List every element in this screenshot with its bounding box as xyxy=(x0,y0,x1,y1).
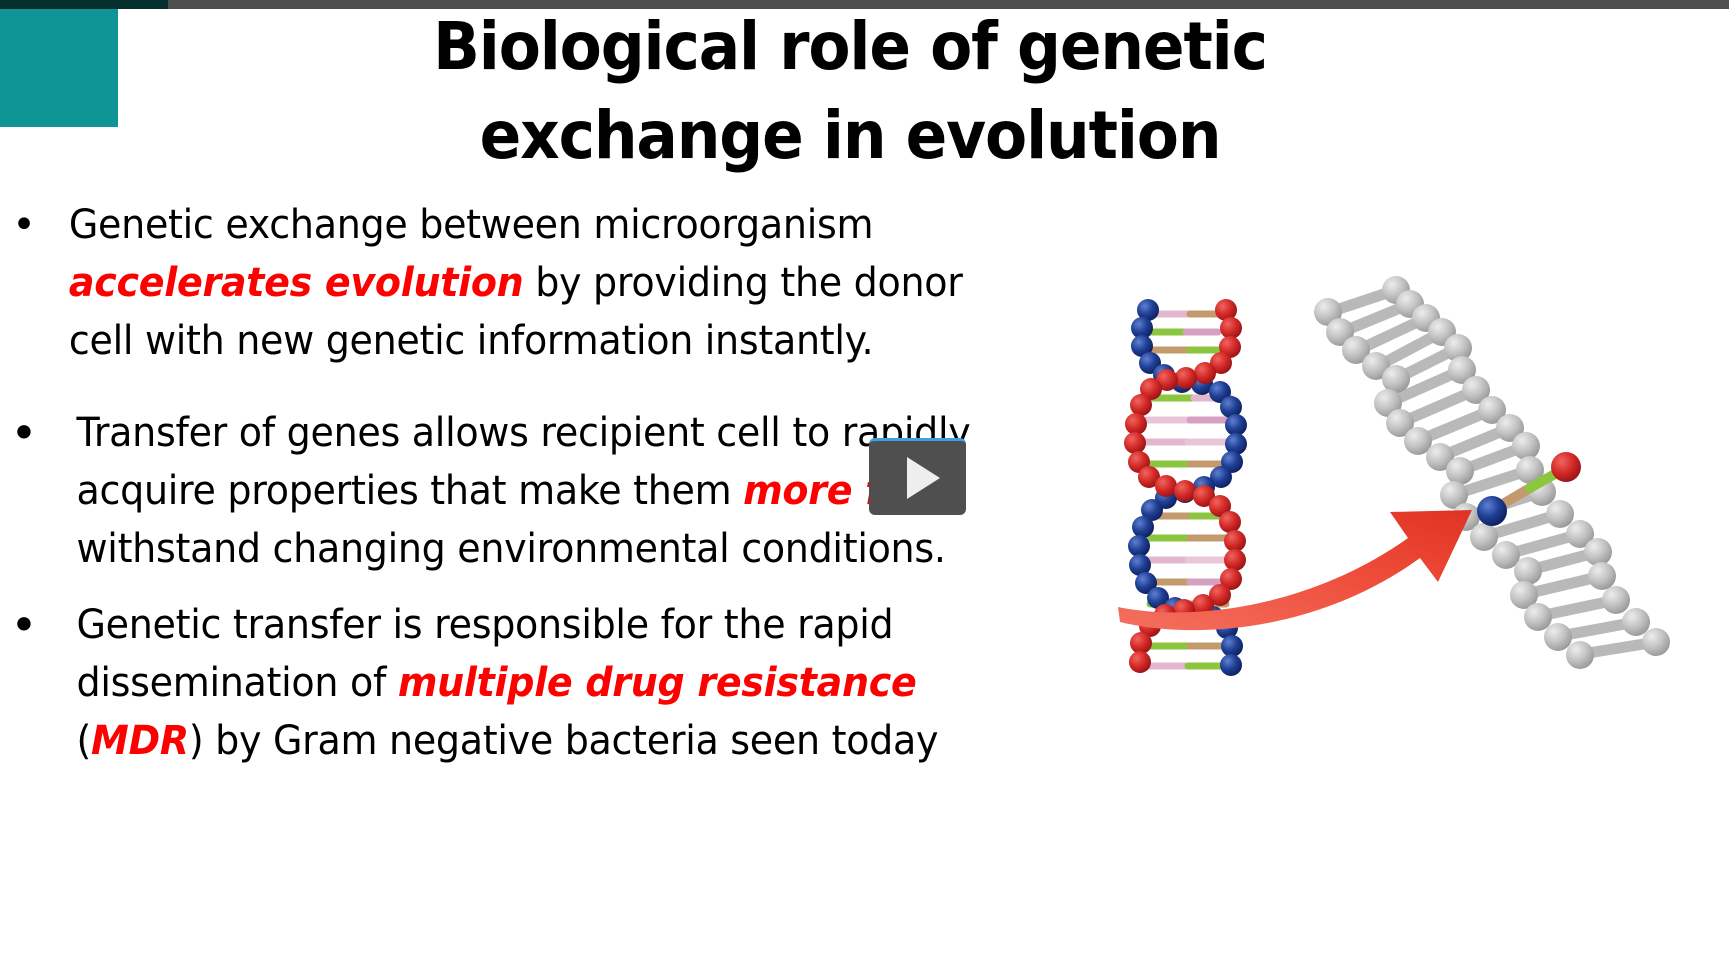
top-chrome-bar-dark-segment xyxy=(0,0,168,9)
slide-root: Biological role of genetic exchange in e… xyxy=(0,0,1729,975)
bullet-text-segment: Genetic exchange between microorganism xyxy=(69,202,873,248)
list-item: • Genetic exchange between microorganism… xyxy=(0,196,1040,370)
play-triangle-icon xyxy=(907,457,940,499)
slide-title-line-1: Biological role of genetic xyxy=(320,2,1380,91)
teal-corner-top-left xyxy=(0,9,118,127)
gray-dna-double-helix xyxy=(1314,276,1670,669)
dna-figure-svg xyxy=(1090,270,1729,690)
bullet-marker-icon: • xyxy=(0,196,48,254)
bullet-text-emphasis: multiple drug resistance xyxy=(398,660,917,706)
bullet-marker-icon: • xyxy=(0,404,48,462)
slide-title-line-2: exchange in evolution xyxy=(320,91,1380,180)
bullet-text: Genetic exchange between microorganism a… xyxy=(48,196,990,370)
video-play-button[interactable] xyxy=(869,438,966,515)
top-chrome-bar xyxy=(0,0,1729,9)
dna-transfer-figure xyxy=(1090,270,1729,690)
bullet-text-emphasis: accelerates evolution xyxy=(69,260,524,306)
bullet-text-emphasis: MDR xyxy=(91,718,189,764)
slide-title: Biological role of genetic exchange in e… xyxy=(320,2,1380,180)
bullet-text-segment: ) by Gram negative bacteria seen today xyxy=(189,718,938,764)
bullet-text: Genetic transfer is responsible for the … xyxy=(48,596,990,770)
bullet-text: Transfer of genes allows recipient cell … xyxy=(48,404,990,578)
gray-dna-backbone xyxy=(1314,276,1670,669)
bullet-text-segment: ( xyxy=(77,718,92,764)
list-item: • Genetic transfer is responsible for th… xyxy=(0,596,1040,770)
bullet-marker-icon: • xyxy=(0,596,48,654)
